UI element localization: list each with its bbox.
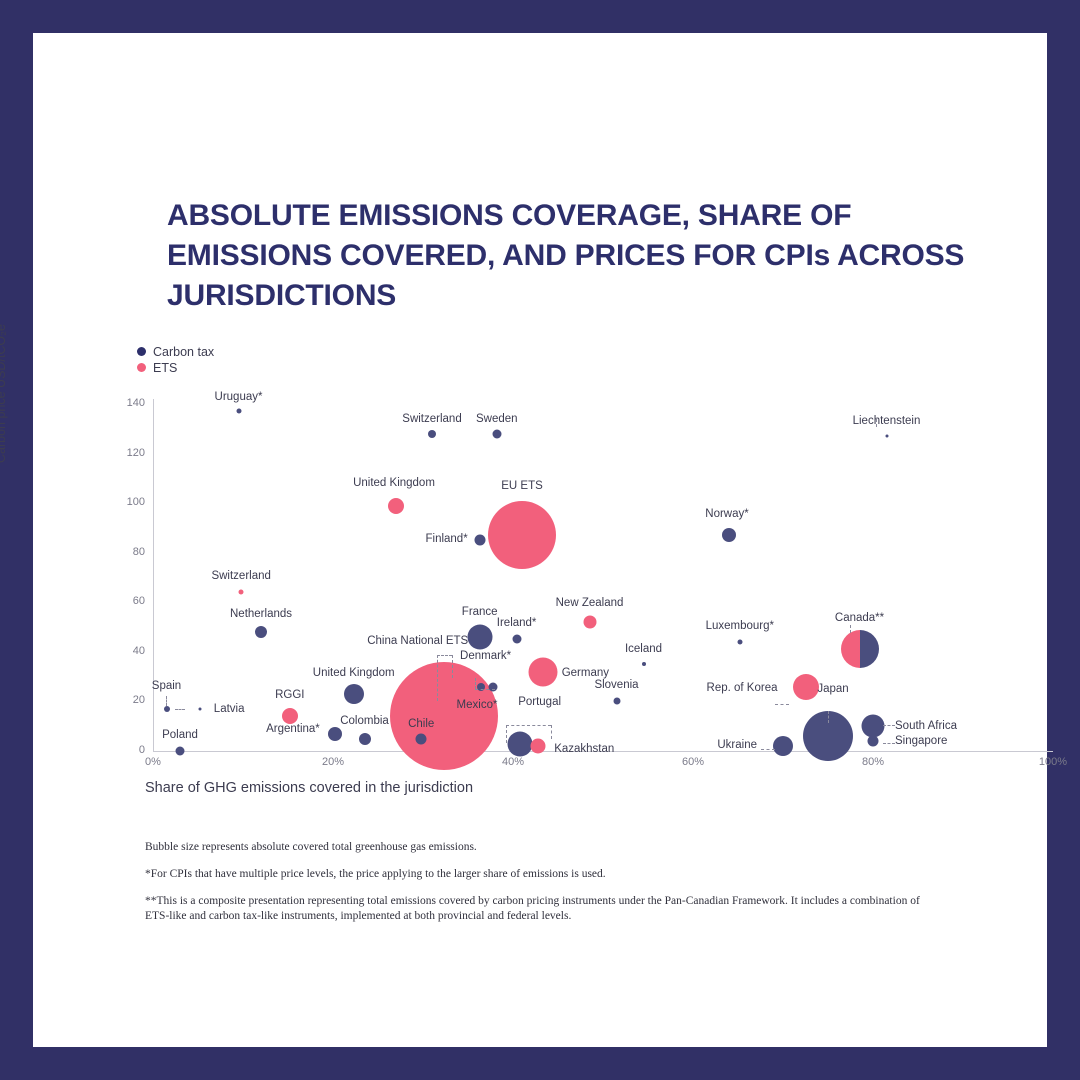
label-chile: Chile: [408, 718, 434, 730]
bubble-latvia[interactable]: [198, 707, 201, 710]
y-tick-0: 0: [109, 744, 145, 756]
label-argentina: Argentina*: [266, 723, 320, 735]
label-canada: Canada**: [835, 612, 884, 624]
label-uruguay: Uruguay*: [215, 391, 263, 403]
note-bubble-size: Bubble size represents absolute covered …: [145, 840, 935, 855]
y-tick-20: 20: [109, 694, 145, 706]
leader-korea: [775, 704, 789, 705]
leader-mexico-left: [506, 725, 507, 743]
bubble-eu-ets[interactable]: [488, 501, 556, 569]
y-tick-100: 100: [109, 496, 145, 508]
leader-latvia: [175, 709, 185, 710]
label-ukraine: Ukraine: [717, 739, 757, 751]
bubble-finland[interactable]: [474, 535, 485, 546]
label-rep-of-korea: Rep. of Korea: [707, 682, 778, 694]
bubble-argentina[interactable]: [328, 727, 342, 741]
leader-mexico-top: [506, 725, 551, 726]
leader-mexico-right: [551, 725, 552, 739]
bubble-switzerland[interactable]: [239, 590, 244, 595]
bubble-france[interactable]: [467, 624, 492, 649]
bubble-new-zealand[interactable]: [583, 616, 596, 629]
x-tick-100pct: 100%: [1039, 756, 1067, 768]
label-new-zealand: New Zealand: [556, 597, 624, 609]
bubble-spain[interactable]: [164, 706, 170, 712]
bubble-singapore[interactable]: [868, 736, 879, 747]
bubble-luxembourg[interactable]: [737, 639, 742, 644]
note-asterisk: *For CPIs that have multiple price level…: [145, 867, 935, 882]
leader-ukraine: [761, 749, 775, 750]
label-colombia: Colombia: [340, 715, 389, 727]
y-tick-80: 80: [109, 546, 145, 558]
leader-denmark-left: [437, 655, 438, 701]
label-netherlands: Netherlands: [230, 608, 292, 620]
bubble-china-national-ets[interactable]: [390, 662, 498, 770]
label-kazakhstan: Kazakhstan: [554, 743, 614, 755]
bubble-united-kingdom[interactable]: [344, 684, 364, 704]
y-tick-60: 60: [109, 595, 145, 607]
y-axis-label: Carbon price USD/tCO₂e: [0, 263, 8, 463]
leader-south-africa: [883, 725, 895, 726]
y-tick-140: 140: [109, 397, 145, 409]
bubble-united-kingdom[interactable]: [388, 498, 404, 514]
label-switzerland: Switzerland: [402, 413, 461, 425]
bubble-germany[interactable]: [528, 657, 557, 686]
leader-liechtenstein: [876, 419, 877, 427]
leader-canada: [850, 625, 851, 633]
label-iceland: Iceland: [625, 643, 662, 655]
bubble-ireland[interactable]: [512, 635, 521, 644]
x-axis-label: Share of GHG emissions covered in the ju…: [145, 780, 473, 796]
bubble-colombia[interactable]: [359, 733, 371, 745]
x-tick-0pct: 0%: [145, 756, 161, 768]
leader-denmark-top: [437, 655, 452, 656]
label-latvia: Latvia: [214, 703, 245, 715]
label-sweden: Sweden: [476, 413, 518, 425]
bubble-ukraine[interactable]: [773, 736, 793, 756]
label-united-kingdom: United Kingdom: [313, 667, 395, 679]
x-tick-40pct: 40%: [502, 756, 524, 768]
label-ireland: Ireland*: [497, 617, 537, 629]
y-axis-line: [153, 399, 154, 752]
label-france: France: [462, 606, 498, 618]
bubble-slovenia[interactable]: [613, 698, 620, 705]
bubble-uruguay[interactable]: [236, 409, 241, 414]
label-portugal: Portugal: [518, 696, 561, 708]
y-tick-120: 120: [109, 447, 145, 459]
label-finland: Finland*: [425, 533, 467, 545]
label-united-kingdom: United Kingdom: [353, 477, 435, 489]
label-mexico: Mexico*: [457, 699, 498, 711]
label-spain: Spain: [152, 680, 181, 692]
x-tick-60pct: 60%: [682, 756, 704, 768]
chart-notes: Bubble size represents absolute covered …: [145, 840, 935, 936]
x-tick-80pct: 80%: [862, 756, 884, 768]
label-slovenia: Slovenia: [594, 679, 638, 691]
label-singapore: Singapore: [895, 735, 947, 747]
x-tick-20pct: 20%: [322, 756, 344, 768]
label-liechtenstein: Liechtenstein: [853, 415, 921, 427]
note-double-asterisk: **This is a composite presentation repre…: [145, 894, 935, 924]
label-china-national-ets: China National ETS: [367, 635, 468, 647]
leader-japan: [828, 711, 829, 723]
label-eu-ets: EU ETS: [501, 480, 543, 492]
label-japan: Japan: [817, 683, 848, 695]
leader-portugal-stem: [475, 678, 476, 689]
leader-denmark-stem: [452, 655, 453, 678]
bubble-rep-of-korea[interactable]: [793, 674, 819, 700]
bubble-mexico-tax[interactable]: [508, 731, 533, 756]
leader-spain: [166, 696, 167, 706]
bubble-netherlands[interactable]: [255, 626, 267, 638]
label-rggi: RGGI: [275, 689, 304, 701]
label-switzerland: Switzerland: [211, 570, 270, 582]
y-tick-40: 40: [109, 645, 145, 657]
bubble-south-africa[interactable]: [862, 715, 885, 738]
bubble-poland[interactable]: [176, 747, 185, 756]
label-denmark: Denmark*: [460, 650, 511, 662]
label-south-africa: South Africa: [895, 720, 957, 732]
bubble-kazakhstan[interactable]: [531, 739, 546, 754]
bubble-switzerland[interactable]: [428, 430, 436, 438]
infographic-page: ABSOLUTE EMISSIONS COVERAGE, SHARE OF EM…: [0, 0, 1080, 1080]
leader-portugal: [475, 689, 495, 690]
chart-card: ABSOLUTE EMISSIONS COVERAGE, SHARE OF EM…: [33, 33, 1047, 1047]
leader-singapore: [883, 743, 895, 744]
label-norway: Norway*: [705, 508, 748, 520]
label-luxembourg: Luxembourg*: [706, 620, 774, 632]
bubble-liechtenstein[interactable]: [885, 435, 888, 438]
bubble-chile[interactable]: [416, 733, 427, 744]
label-poland: Poland: [162, 729, 198, 741]
bubble-norway[interactable]: [722, 528, 736, 542]
bubble-sweden[interactable]: [492, 429, 501, 438]
bubble-canada[interactable]: [841, 630, 879, 668]
bubble-mexico[interactable]: [469, 738, 486, 755]
bubble-iceland[interactable]: [642, 662, 646, 666]
label-germany: Germany: [562, 667, 609, 679]
